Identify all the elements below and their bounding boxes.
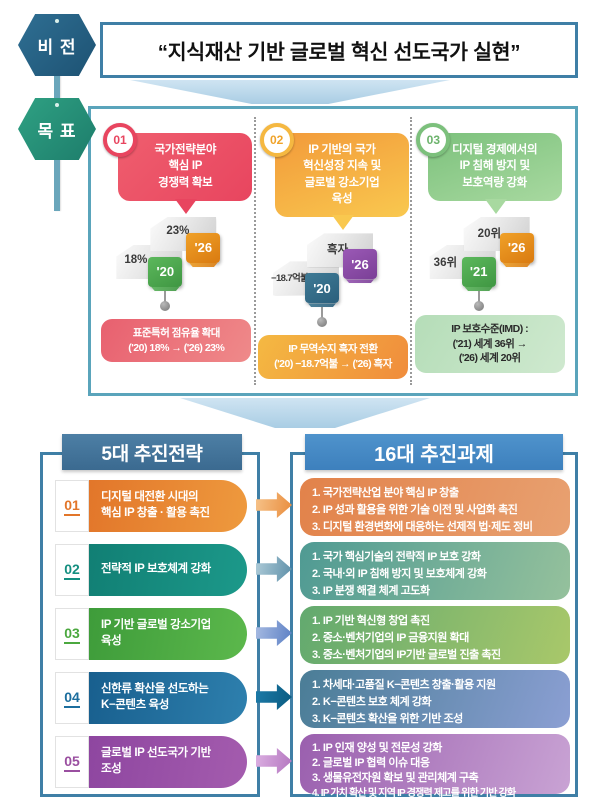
goal-step-chart: 18% 23% '20 '26	[110, 215, 242, 293]
goal-number-badge: 02	[260, 123, 294, 157]
goal-caption-text: IP 보호수준(IMD) : ('21) 세계 36위 → ('26) 세계 2…	[451, 323, 528, 364]
strategy-row[interactable]: 04 신한류 확산을 선도하는 K−콘텐츠 육성	[55, 672, 247, 724]
goal-step-chart: −18.7억불 흑자 '20 '26	[267, 231, 399, 309]
task-line: 2. IP 성과 활용을 위한 기술 이전 및 사업화 촉진	[312, 502, 561, 519]
strategy-header: 5대 추진전략	[62, 434, 242, 470]
goal-bubble-text: 디지털 경제에서의 IP 침해 방지 및 보호역량 강화	[452, 144, 537, 189]
task-line: 3. K−콘텐츠 확산을 위한 기반 조성	[312, 711, 561, 728]
strategy-label: 전략적 IP 보호체계 강화	[101, 562, 211, 578]
flow-arrow	[256, 684, 292, 710]
goal-bubble: 국가전략분야 핵심 IP 경쟁력 확보	[118, 133, 252, 201]
step-base-label: 36위	[434, 254, 457, 270]
task-line: 2. 국내·외 IP 침해 방지 및 보호체계 강화	[312, 566, 561, 583]
strategy-number-label: 01	[64, 497, 80, 516]
flow-arrow	[256, 748, 292, 774]
step-target-year-chip: '26	[186, 233, 220, 263]
strategy-label: IP 기반 글로벌 강소기업 육성	[101, 618, 211, 650]
arrow-right-icon	[256, 748, 292, 774]
task-line: 1. IP 인재 양성 및 전문성 강화	[312, 741, 561, 756]
step-base-label: −18.7억불	[271, 270, 308, 284]
step-base-year-chip: '21	[462, 257, 496, 287]
strategy-label: 글로벌 IP 선도국가 기반 조성	[101, 746, 211, 778]
flow-arrow	[256, 556, 292, 582]
task-group[interactable]: 1. 국가 핵심기술의 전략적 IP 보호 강화 2. 국내·외 IP 침해 방…	[300, 542, 570, 600]
flow-arrow	[256, 492, 292, 518]
goal-caption-text: IP 무역수지 흑자 전환 ('20) −18.7억불 → ('26) 흑자	[274, 343, 392, 370]
strategy-number: 04	[55, 672, 89, 724]
strategy-label: 신한류 확산을 선도하는 K−콘텐츠 육성	[101, 682, 208, 714]
goal-column-03: 03 디지털 경제에서의 IP 침해 방지 및 보호역량 강화 36위 20위 …	[410, 117, 567, 385]
step-base-year-chip: '20	[305, 273, 339, 303]
strategy-row[interactable]: 01 디지털 대전환 시대의 핵심 IP 창출 · 활용 촉진	[55, 480, 247, 532]
goal-bubble: IP 기반의 국가 혁신성장 지속 및 글로벌 강소기업 육성	[275, 133, 409, 217]
goal-badge-stem	[54, 155, 60, 211]
task-line: 4. IP 가치 확산 및 지역 IP 경쟁력 제고를 위한 기반 강화	[312, 787, 561, 801]
goal-column-01: 01 국가전략분야 핵심 IP 경쟁력 확보 18% 23% '20 '26 표…	[99, 117, 254, 385]
vision-badge: 비 전	[18, 14, 96, 76]
arrow-right-icon	[256, 556, 292, 582]
arrow-right-icon	[256, 492, 292, 518]
task-line: 2. K−콘텐츠 보호 체계 강화	[312, 694, 561, 711]
vision-bar: “지식재산 기반 글로벌 혁신 선도국가 실현”	[100, 22, 578, 78]
step-base-year-chip: '20	[148, 257, 182, 287]
strategy-row[interactable]: 05 글로벌 IP 선도국가 기반 조성	[55, 736, 247, 788]
strategy-number-label: 03	[64, 625, 80, 644]
task-line: 3. IP 분쟁 해결 체계 고도화	[312, 583, 561, 600]
task-group[interactable]: 1. 차세대·고품질 K−콘텐츠 창출·활용 지원 2. K−콘텐츠 보호 체계…	[300, 670, 570, 728]
step-target-year-chip: '26	[343, 249, 377, 279]
infographic-root: 비 전 “지식재산 기반 글로벌 혁신 선도국가 실현” 목 표 01 국가전략…	[0, 0, 600, 811]
strategy-label-box: 글로벌 IP 선도국가 기반 조성	[89, 736, 247, 788]
step-base-label: 18%	[124, 254, 147, 266]
task-line: 1. IP 기반 혁신형 창업 촉진	[312, 613, 561, 630]
strategy-label-box: 디지털 대전환 시대의 핵심 IP 창출 · 활용 촉진	[89, 480, 247, 532]
task-header: 16대 추진과제	[305, 434, 563, 470]
strategy-row[interactable]: 03 IP 기반 글로벌 강소기업 육성	[55, 608, 247, 660]
pin-dot-icon	[317, 317, 327, 327]
task-line: 1. 국가 핵심기술의 전략적 IP 보호 강화	[312, 549, 561, 566]
strategy-number: 01	[55, 480, 89, 532]
goal-number-badge: 01	[103, 123, 137, 157]
pin-dot-icon	[474, 301, 484, 311]
strategy-label: 디지털 대전환 시대의 핵심 IP 창출 · 활용 촉진	[101, 490, 210, 522]
pin-dot-icon	[160, 301, 170, 311]
funnel-arrow-bottom	[180, 398, 430, 428]
task-group[interactable]: 1. IP 인재 양성 및 전문성 강화 2. 글로벌 IP 협력 이슈 대응 …	[300, 734, 570, 794]
strategy-number: 02	[55, 544, 89, 596]
task-line: 3. 생물유전자원 확보 및 관리체계 구축	[312, 771, 561, 786]
step-target-label: 20위	[478, 225, 501, 241]
strategy-header-label: 5대 추진전략	[101, 439, 202, 466]
goal-caption: 표준특허 점유율 확대 ('20) 18% → ('26) 23%	[101, 319, 251, 362]
goal-step-chart: 36위 20위 '21 '26	[424, 215, 556, 293]
task-line: 1. 국가전략산업 분야 핵심 IP 창출	[312, 485, 561, 502]
arrow-right-icon	[256, 620, 292, 646]
strategy-label-box: 신한류 확산을 선도하는 K−콘텐츠 육성	[89, 672, 247, 724]
strategy-number-label: 05	[64, 753, 80, 772]
goal-column-02: 02 IP 기반의 국가 혁신성장 지속 및 글로벌 강소기업 육성 −18.7…	[254, 117, 411, 385]
task-line: 3. 디지털 환경변화에 대응하는 선제적 법·제도 정비	[312, 519, 561, 536]
strategy-number-label: 02	[64, 561, 80, 580]
task-line: 2. 글로벌 IP 협력 이슈 대응	[312, 756, 561, 771]
task-line: 1. 차세대·고품질 K−콘텐츠 창출·활용 지원	[312, 677, 561, 694]
arrow-right-icon	[256, 684, 292, 710]
strategy-row[interactable]: 02 전략적 IP 보호체계 강화	[55, 544, 247, 596]
step-target-year-chip: '26	[500, 233, 534, 263]
task-line: 2. 중소·벤처기업의 IP 금융지원 확대	[312, 630, 561, 647]
funnel-arrow-top	[130, 80, 450, 104]
goal-caption-text: 표준특허 점유율 확대 ('20) 18% → ('26) 23%	[128, 327, 224, 354]
task-group[interactable]: 1. IP 기반 혁신형 창업 촉진 2. 중소·벤처기업의 IP 금융지원 확…	[300, 606, 570, 664]
vision-badge-label: 비 전	[37, 33, 76, 58]
strategy-number: 03	[55, 608, 89, 660]
goal-badge-label: 목 표	[37, 117, 76, 142]
goal-badge: 목 표	[18, 98, 96, 160]
goal-caption: IP 보호수준(IMD) : ('21) 세계 36위 → ('26) 세계 2…	[415, 315, 565, 373]
task-group[interactable]: 1. 국가전략산업 분야 핵심 IP 창출 2. IP 성과 활용을 위한 기술…	[300, 478, 570, 536]
strategy-label-box: 전략적 IP 보호체계 강화	[89, 544, 247, 596]
strategy-number: 05	[55, 736, 89, 788]
badge-dot-icon	[55, 103, 59, 107]
task-header-label: 16대 추진과제	[374, 438, 494, 467]
goal-bubble-text: IP 기반의 국가 혁신성장 지속 및 글로벌 강소기업 육성	[303, 144, 381, 205]
vision-statement: “지식재산 기반 글로벌 혁신 선도국가 실현”	[158, 35, 520, 65]
badge-dot-icon	[55, 19, 59, 23]
goal-bubble-text: 국가전략분야 핵심 IP 경쟁력 확보	[154, 144, 216, 189]
goal-panel: 01 국가전략분야 핵심 IP 경쟁력 확보 18% 23% '20 '26 표…	[88, 106, 578, 396]
task-line: 3. 중소·벤처기업의 IP기반 글로벌 진출 촉진	[312, 647, 561, 664]
strategy-number-label: 04	[64, 689, 80, 708]
goal-caption: IP 무역수지 흑자 전환 ('20) −18.7억불 → ('26) 흑자	[258, 335, 408, 378]
strategy-label-box: IP 기반 글로벌 강소기업 육성	[89, 608, 247, 660]
flow-arrow	[256, 620, 292, 646]
